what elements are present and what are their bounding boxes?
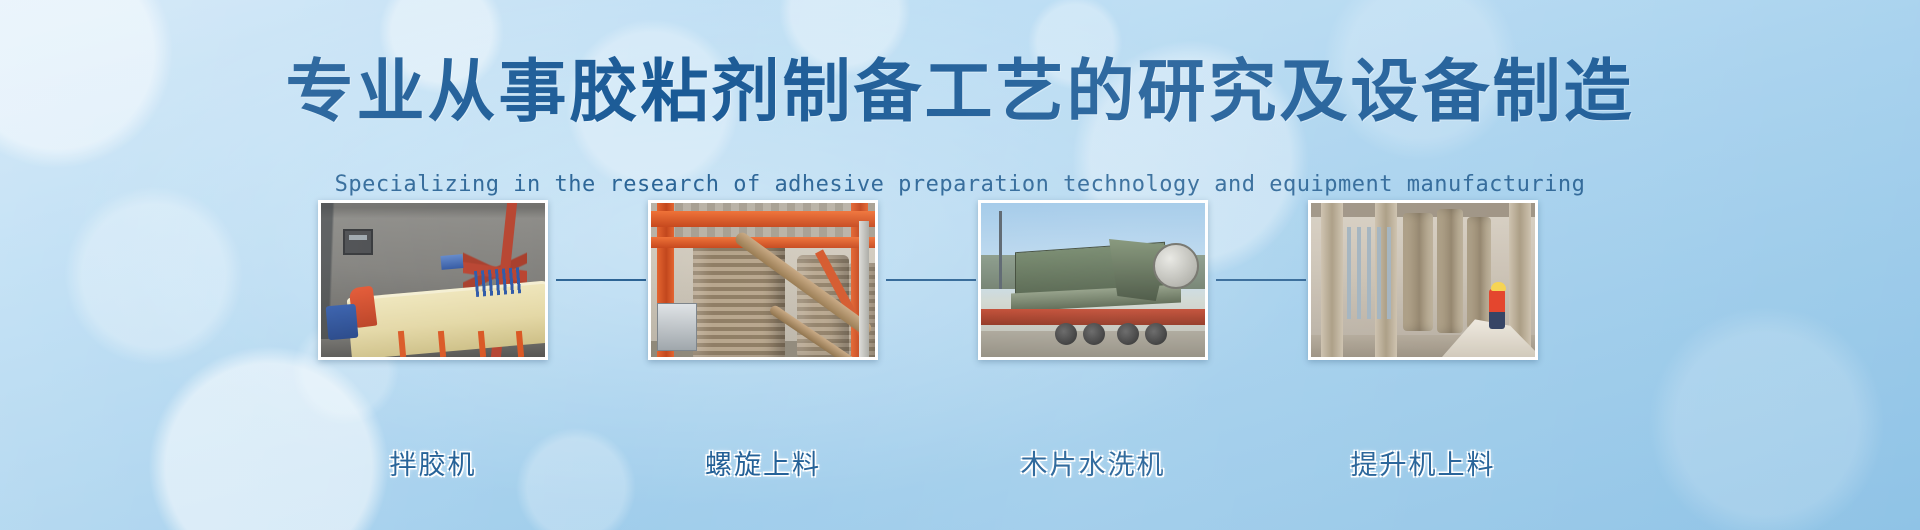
- product-photo-strip: [0, 200, 1920, 380]
- connector-line-3: [1216, 279, 1306, 281]
- photo-tank: [1403, 213, 1433, 331]
- photo-wheel: [1117, 323, 1139, 345]
- product-caption-4: 提升机上料: [1308, 443, 1538, 482]
- photo-motor: [326, 304, 359, 340]
- page-title: 专业从事胶粘剂制备工艺的研究及设备制造: [0, 56, 1920, 130]
- photo-control-cabinet: [657, 303, 697, 351]
- product-card-2[interactable]: [648, 200, 878, 360]
- photo-worker: [1489, 289, 1505, 329]
- photo-drum: [1153, 243, 1199, 289]
- glue-mixer-photo: [321, 203, 545, 357]
- product-caption-3: 木片水洗机: [978, 443, 1208, 482]
- product-card-1[interactable]: [318, 200, 548, 360]
- page-subtitle: Specializing in the research of adhesive…: [0, 172, 1920, 197]
- photo-pipework: [1347, 227, 1393, 319]
- photo-control-box: [343, 229, 373, 255]
- photo-utility-pole: [999, 211, 1002, 289]
- connector-line-1: [556, 279, 646, 281]
- screw-feeder-photo: [651, 203, 875, 357]
- photo-steel-beam: [651, 211, 875, 227]
- photo-wheel: [1083, 323, 1105, 345]
- product-caption-2: 螺旋上料: [648, 443, 878, 482]
- photo-tank: [1467, 217, 1491, 329]
- photo-valve-block: [440, 254, 463, 270]
- connector-line-2: [886, 279, 976, 281]
- product-card-4[interactable]: [1308, 200, 1538, 360]
- photo-column: [1321, 203, 1343, 357]
- promo-banner: 专业从事胶粘剂制备工艺的研究及设备制造 Specializing in the …: [0, 0, 1920, 530]
- photo-pipe: [859, 221, 869, 360]
- photo-wheel: [1145, 323, 1167, 345]
- photo-manifold: [474, 267, 524, 297]
- photo-hard-hat: [1491, 282, 1506, 291]
- product-card-3[interactable]: [978, 200, 1208, 360]
- wood-chip-washer-photo: [981, 203, 1205, 357]
- photo-wheel: [1055, 323, 1077, 345]
- elevator-feeder-photo: [1311, 203, 1535, 357]
- photo-tank: [1437, 209, 1463, 333]
- product-caption-1: 拌胶机: [318, 443, 548, 482]
